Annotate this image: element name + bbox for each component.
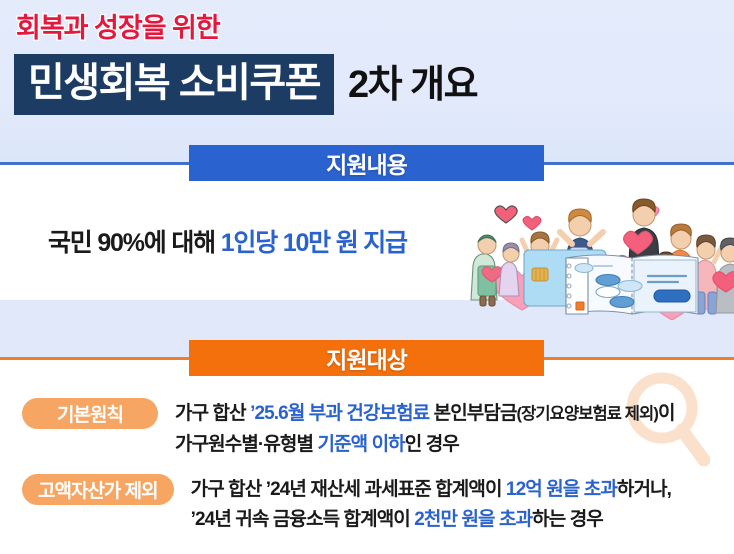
basic-line2-highlight: 기준액 이하 [317,434,404,455]
exclude-line2-lead: ’24년 귀속 금융소득 합계액이 [191,509,415,530]
section-banner-eligibility: 지원대상 [189,340,544,376]
title-row: 민생회복 소비쿠폰 2차 개요 [14,54,477,115]
exclude-line1-tail: 하거나, [617,479,671,500]
section-banner-support: 지원내용 [189,145,544,181]
basic-line1-paren: (장기요양보험료 제외) [517,405,658,423]
basic-line1-tail2: 이 [658,403,675,424]
basic-line2-tail: 인 경우 [405,434,459,455]
eligibility-row-basic: 기본원칙 가구 합산 ’25.6월 부과 건강보험료 본인부담금(장기요양보험료… [22,398,675,460]
eligibility-row-basic-text: 가구 합산 ’25.6월 부과 건강보험료 본인부담금(장기요양보험료 제외)이… [175,398,675,460]
basic-line1-highlight: ’25.6월 부과 건강보험료 [250,403,429,424]
exclude-line2-highlight: 2천만 원을 초과 [414,509,532,530]
pill-high-asset-exclusion: 고액자산가 제외 [22,474,174,505]
support-lead-text: 국민 90%에 대해 [48,229,215,257]
support-content-line: 국민 90%에 대해 1인당 10만 원 지급 [48,223,407,259]
infographic-poster: 회복과 성장을 위한 민생회복 소비쿠폰 2차 개요 지원내용 국민 90%에 … [0,0,734,554]
exclude-line2-tail: 하는 경우 [532,509,603,530]
exclude-line2: ’24년 귀속 금융소득 합계액이 2천만 원을 초과하는 경우 [191,505,671,535]
eligibility-row-exclusion: 고액자산가 제외 가구 합산 ’24년 재산세 과세표준 합계액이 12억 원을… [22,474,671,535]
basic-line1-tail: 본인부담금 [429,403,516,424]
basic-line1-lead: 가구 합산 [175,403,250,424]
exclude-line1-highlight: 12억 원을 초과 [506,479,617,500]
support-highlight-text: 1인당 10만 원 지급 [221,229,407,257]
kicker-text: 회복과 성장을 위한 [16,6,220,45]
basic-line2: 가구원수별·유형별 기준액 이하인 경우 [175,430,675,460]
page-title-suffix: 2차 개요 [348,66,477,104]
basic-line2-lead: 가구원수별·유형별 [175,434,317,455]
support-illustration [462,192,734,320]
exclude-line1-lead: 가구 합산 ’24년 재산세 과세표준 합계액이 [191,479,506,500]
page-title-boxed: 민생회복 소비쿠폰 [14,54,334,115]
eligibility-row-exclusion-text: 가구 합산 ’24년 재산세 과세표준 합계액이 12억 원을 초과하거나, ’… [191,474,671,535]
pill-basic-principle: 기본원칙 [22,398,158,429]
